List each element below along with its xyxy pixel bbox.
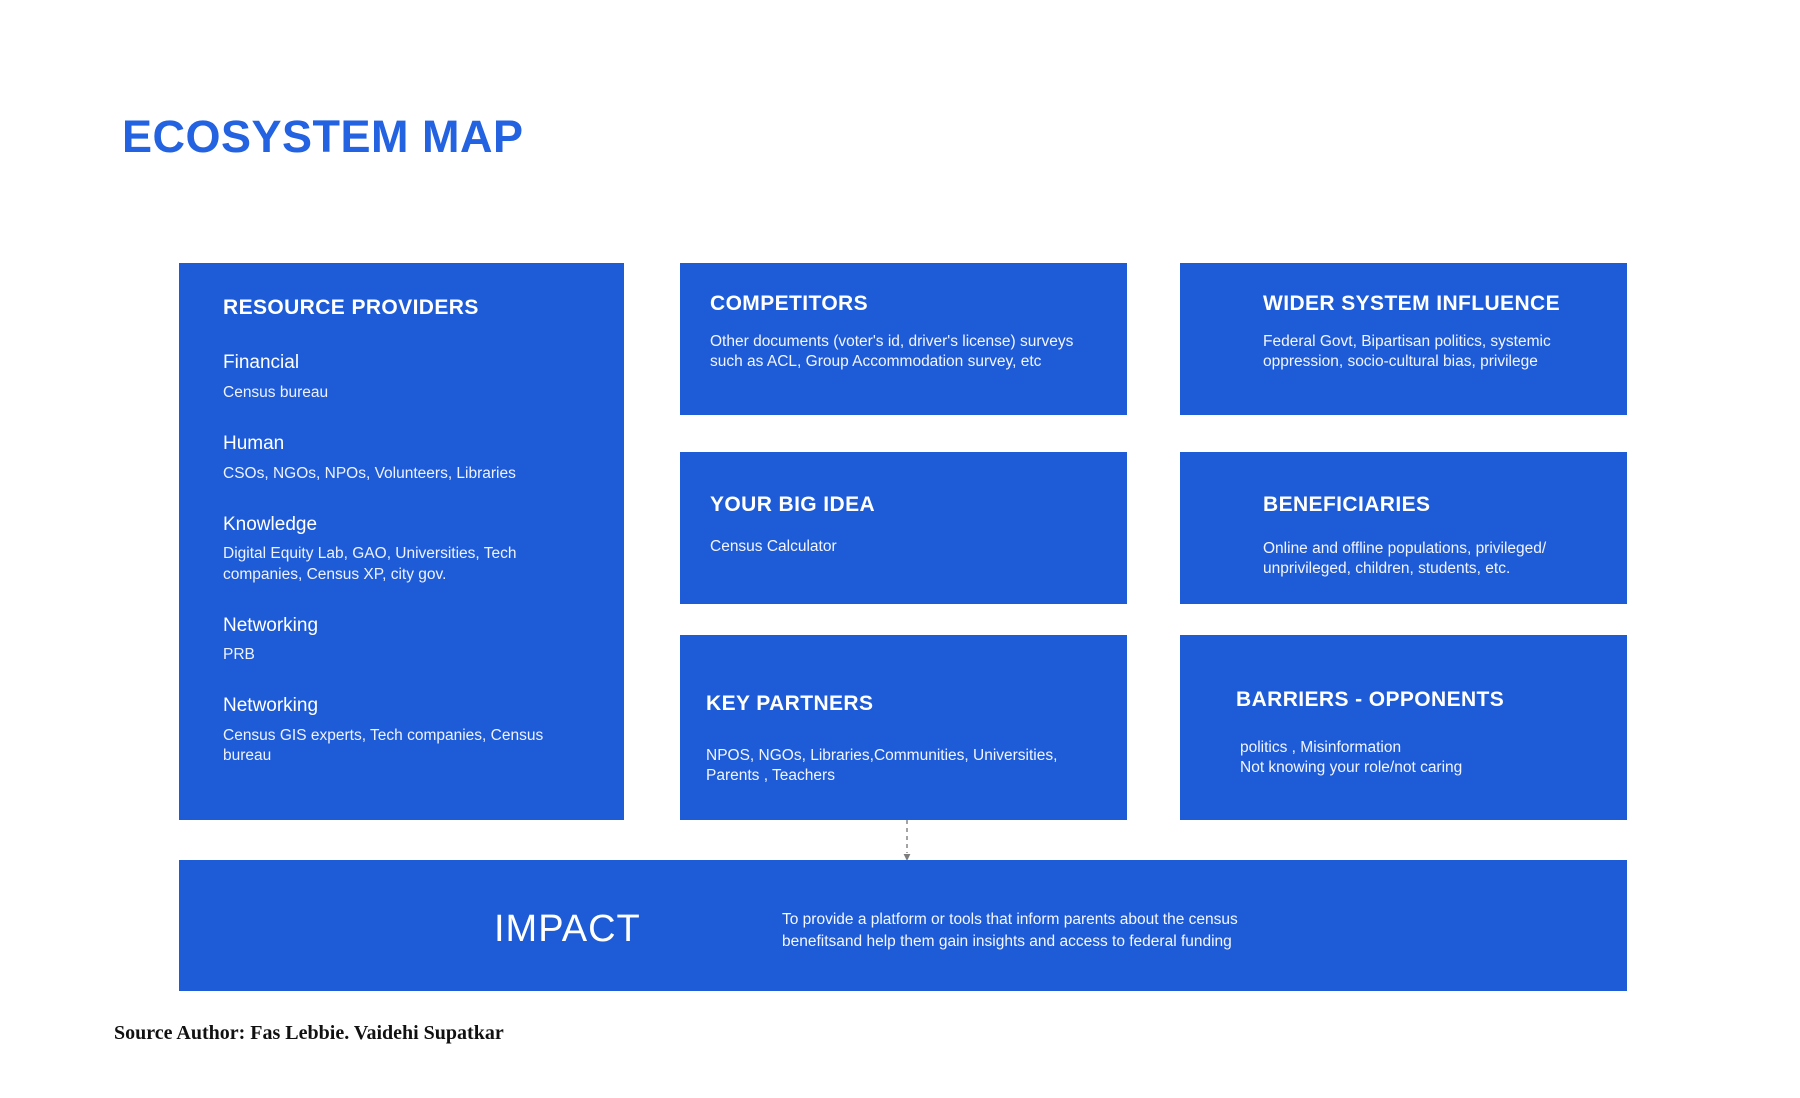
resource-group-heading: Financial [223,350,580,376]
resource-group-detail: PRB [223,645,580,665]
barriers-title: BARRIERS - OPPONENTS [1236,687,1597,712]
card-barriers-opponents: BARRIERS - OPPONENTS politics , Misinfor… [1180,635,1627,820]
resource-group-detail: Census GIS experts, Tech companies, Cens… [223,726,580,766]
resource-providers-title: RESOURCE PROVIDERS [223,295,580,320]
page-title: ECOSYSTEM MAP [122,114,524,159]
resource-group-heading: Knowledge [223,512,580,538]
wider-system-body: Federal Govt, Bipartisan politics, syste… [1263,332,1597,371]
card-impact: IMPACT To provide a platform or tools th… [179,860,1627,991]
resource-group-heading: Networking [223,693,580,719]
ecosystem-map-canvas: ECOSYSTEM MAP RESOURCE PROVIDERS Financi… [0,0,1800,1098]
resource-group-networking-1: Networking PRB [223,613,580,666]
key-partners-body: NPOS, NGOs, Libraries,Communities, Unive… [706,746,1093,785]
competitors-title: COMPETITORS [710,291,1093,316]
dashed-arrow-connector [901,820,903,860]
resource-group-financial: Financial Census bureau [223,350,580,403]
beneficiaries-body: Online and offline populations, privileg… [1263,539,1597,578]
card-wider-system-influence: WIDER SYSTEM INFLUENCE Federal Govt, Bip… [1180,263,1627,415]
card-key-partners: KEY PARTNERS NPOS, NGOs, Libraries,Commu… [680,635,1127,820]
resource-group-detail: CSOs, NGOs, NPOs, Volunteers, Libraries [223,464,580,484]
source-credit: Source Author: Fas Lebbie. Vaidehi Supat… [114,1022,504,1045]
big-idea-title: YOUR BIG IDEA [710,492,1093,517]
card-competitors: COMPETITORS Other documents (voter's id,… [680,263,1127,415]
resource-group-human: Human CSOs, NGOs, NPOs, Volunteers, Libr… [223,431,580,484]
card-your-big-idea: YOUR BIG IDEA Census Calculator [680,452,1127,604]
resource-group-detail: Census bureau [223,383,580,403]
impact-label: IMPACT [494,910,641,948]
card-beneficiaries: BENEFICIARIES Online and offline populat… [1180,452,1627,604]
wider-system-title: WIDER SYSTEM INFLUENCE [1263,291,1597,316]
resource-group-knowledge: Knowledge Digital Equity Lab, GAO, Unive… [223,512,580,585]
impact-body: To provide a platform or tools that info… [782,909,1302,954]
big-idea-body: Census Calculator [710,537,1093,556]
resource-group-heading: Human [223,431,580,457]
card-resource-providers: RESOURCE PROVIDERS Financial Census bure… [179,263,624,820]
key-partners-title: KEY PARTNERS [706,691,1093,716]
resource-group-detail: Digital Equity Lab, GAO, Universities, T… [223,544,580,584]
resource-group-heading: Networking [223,613,580,639]
competitors-body: Other documents (voter's id, driver's li… [710,332,1093,371]
resource-group-networking-2: Networking Census GIS experts, Tech comp… [223,693,580,766]
beneficiaries-title: BENEFICIARIES [1263,492,1597,517]
barriers-body: politics , Misinformation Not knowing yo… [1236,738,1597,777]
